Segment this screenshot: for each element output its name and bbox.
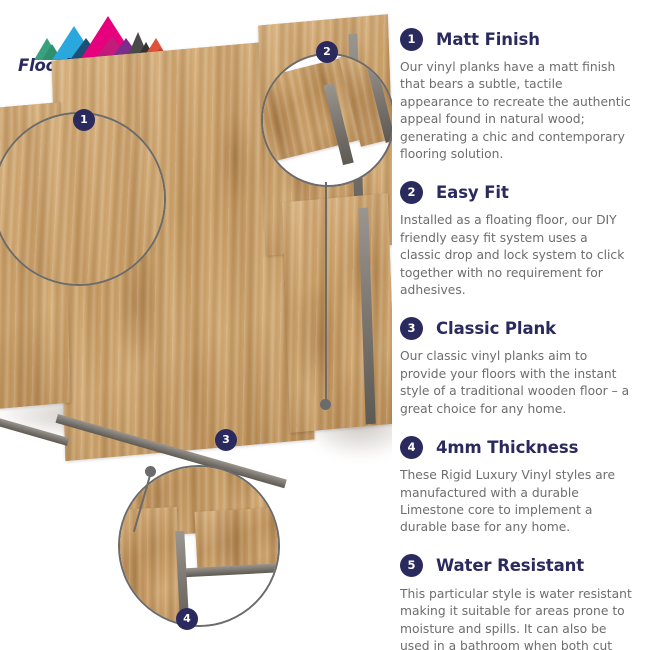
callout-2-magnified-edge: [263, 55, 392, 185]
feature-4-title: 4mm Thickness: [436, 438, 578, 457]
leader-line-callout-2: [325, 182, 327, 404]
feature-1-title: Matt Finish: [436, 30, 540, 49]
feature-1-header: 1 Matt Finish: [400, 26, 640, 52]
feature-5-header: 5 Water Resistant: [400, 553, 640, 579]
feature-2-body: Installed as a floating floor, our DIY f…: [400, 212, 632, 299]
feature-item-5: 5 Water Resistant This particular style …: [400, 553, 640, 650]
feature-2-title: Easy Fit: [436, 183, 509, 202]
photo-pin-4[interactable]: 4: [176, 608, 198, 630]
feature-2-badge: 2: [400, 181, 423, 204]
feature-1-badge: 1: [400, 28, 423, 51]
feature-item-1: 1 Matt Finish Our vinyl planks have a ma…: [400, 26, 640, 163]
product-feature-infographic: Flooring Mountain: [0, 0, 650, 650]
callout-circle-2[interactable]: [261, 53, 392, 187]
feature-3-title: Classic Plank: [436, 319, 556, 338]
leader-dot-callout-2: [320, 399, 331, 410]
photo-pin-2[interactable]: 2: [316, 41, 338, 63]
callout-circle-1[interactable]: [0, 112, 166, 286]
feature-item-3: 3 Classic Plank Our classic vinyl planks…: [400, 315, 640, 418]
feature-3-badge: 3: [400, 317, 423, 340]
callout-4-plank-right: [195, 506, 280, 572]
feature-item-2: 2 Easy Fit Installed as a floating floor…: [400, 179, 640, 299]
feature-2-header: 2 Easy Fit: [400, 179, 640, 205]
callout-circle-4[interactable]: [118, 465, 280, 627]
plank-right-lower: [282, 193, 392, 432]
feature-5-body: This particular style is water resistant…: [400, 586, 632, 650]
feature-5-badge: 5: [400, 554, 423, 577]
callout-4-plank-left: [118, 507, 183, 627]
feature-5-title: Water Resistant: [436, 556, 584, 575]
feature-list: 1 Matt Finish Our vinyl planks have a ma…: [400, 26, 640, 650]
callout-1-magnified-grain: [0, 112, 166, 286]
photo-pin-1[interactable]: 1: [73, 109, 95, 131]
feature-4-body: These Rigid Luxury Vinyl styles are manu…: [400, 467, 632, 537]
leader-dot-callout-4: [145, 466, 156, 477]
product-photo: 1 2 3 4: [0, 0, 392, 650]
feature-1-body: Our vinyl planks have a matt finish that…: [400, 59, 632, 163]
feature-4-badge: 4: [400, 436, 423, 459]
feature-3-body: Our classic vinyl planks aim to provide …: [400, 348, 632, 418]
feature-3-header: 3 Classic Plank: [400, 315, 640, 341]
photo-pin-3[interactable]: 3: [215, 429, 237, 451]
feature-item-4: 4 4mm Thickness These Rigid Luxury Vinyl…: [400, 434, 640, 537]
feature-4-header: 4 4mm Thickness: [400, 434, 640, 460]
